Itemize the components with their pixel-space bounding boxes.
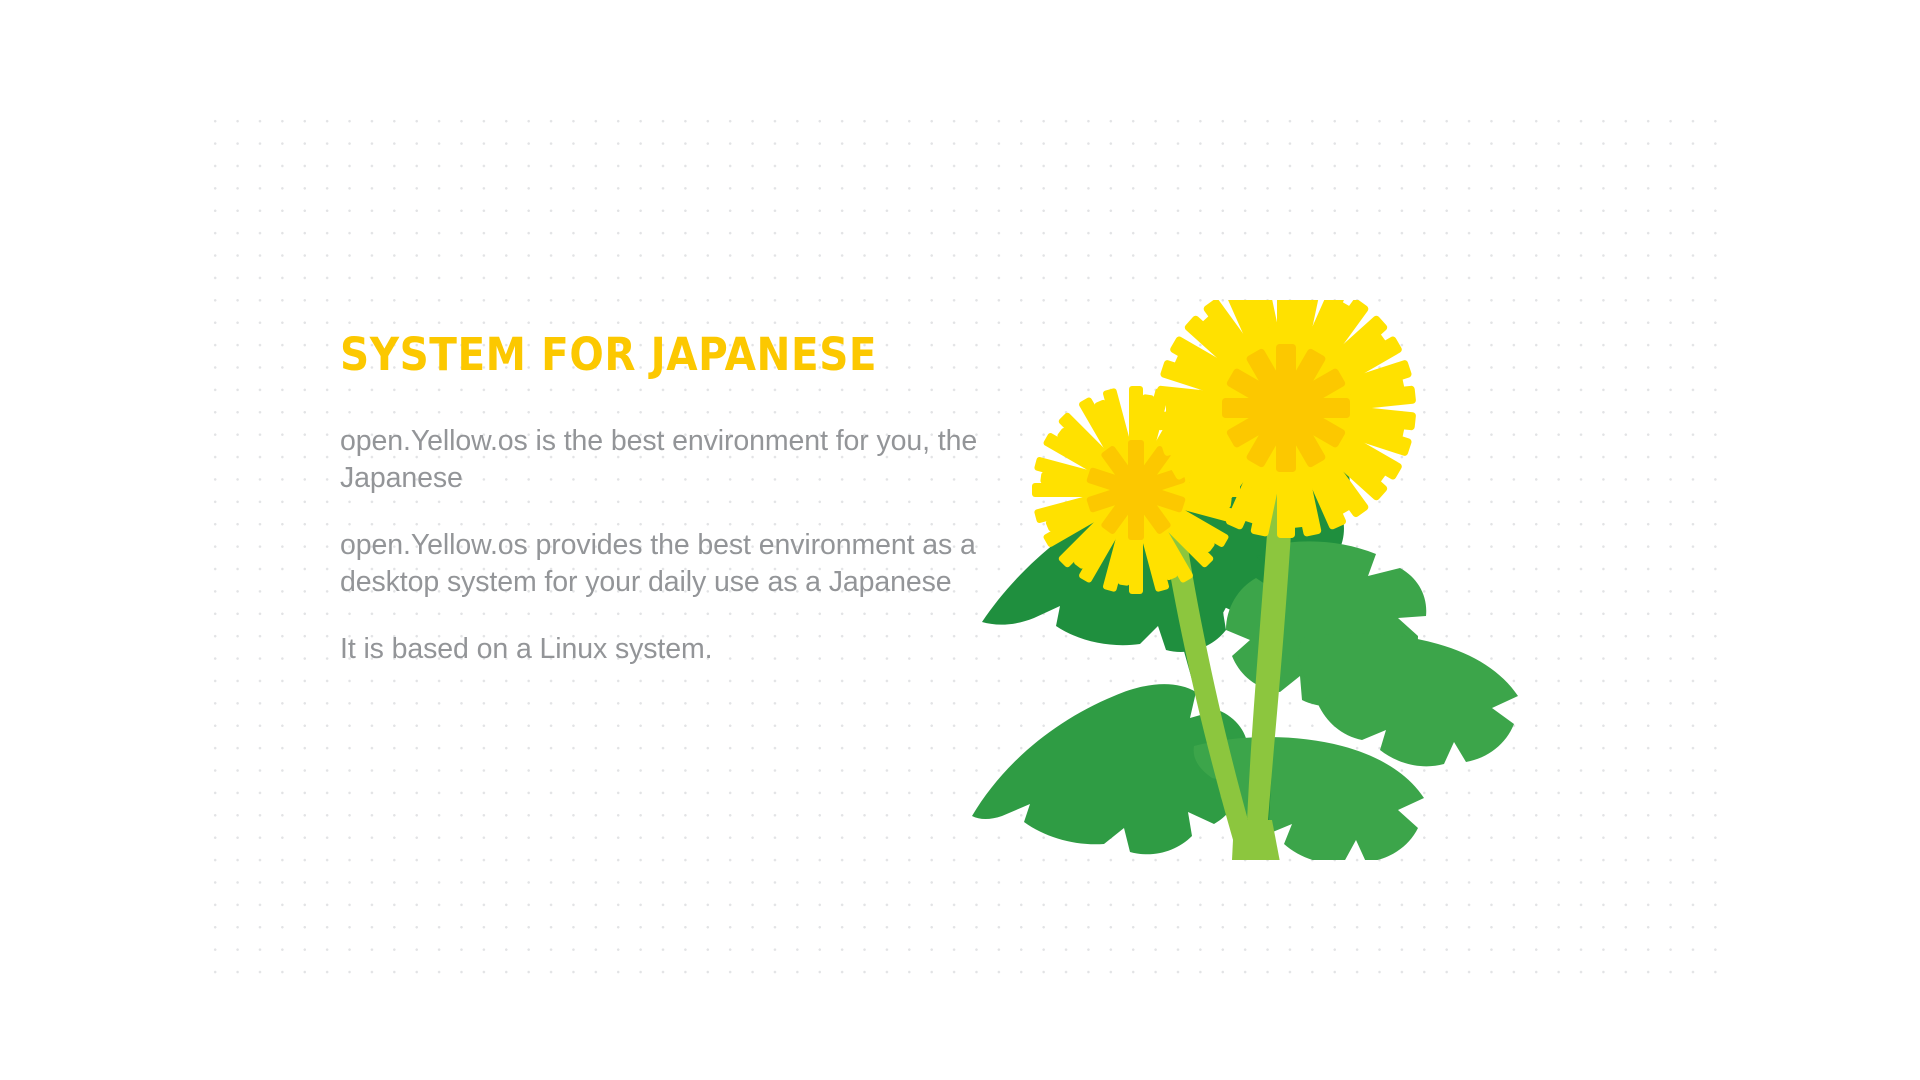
stem-base bbox=[1232, 820, 1280, 860]
dandelion-illustration bbox=[950, 300, 1610, 860]
description-paragraph-1: open.Yellow.os is the best environment f… bbox=[340, 423, 980, 497]
description-paragraph-3: It is based on a Linux system. bbox=[340, 631, 980, 668]
slide-canvas: SYSTEM FOR JAPANESE open.Yellow.os is th… bbox=[0, 0, 1920, 1080]
page-title: SYSTEM FOR JAPANESE bbox=[340, 330, 916, 380]
text-column: SYSTEM FOR JAPANESE open.Yellow.os is th… bbox=[340, 330, 980, 668]
description-paragraph-2: open.Yellow.os provides the best environ… bbox=[340, 527, 980, 601]
